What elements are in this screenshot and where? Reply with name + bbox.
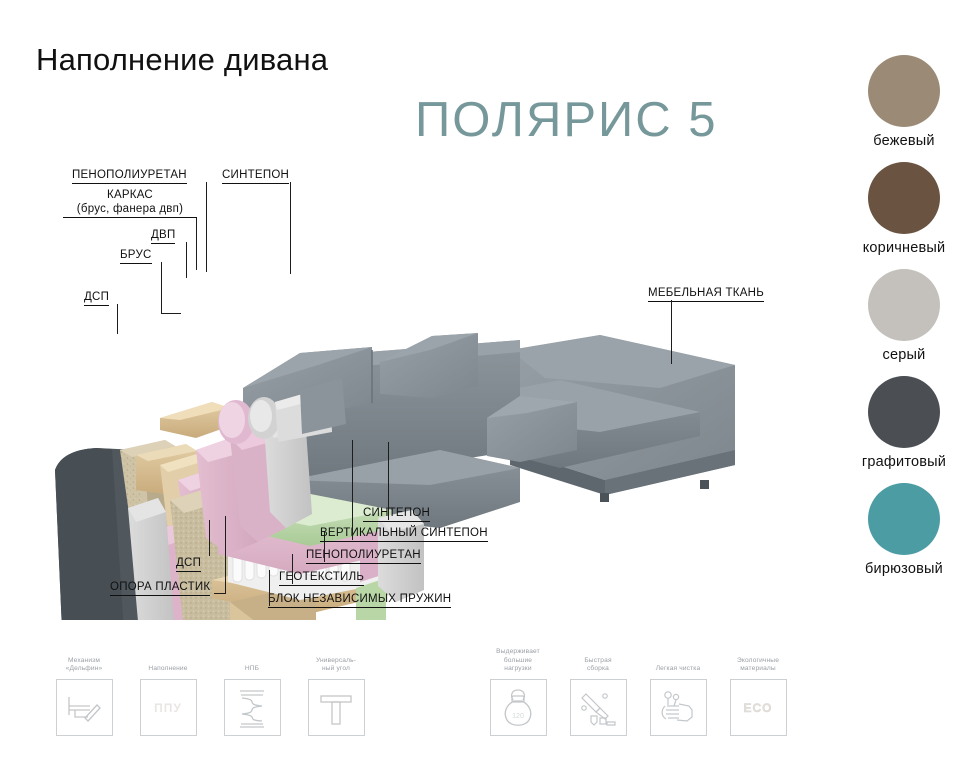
swatch-label: бирюзовый [834, 561, 974, 577]
callout-vertikalnyy-sintepon: ВЕРТИКАЛЬНЫЙ СИНТЕПОН [320, 526, 488, 542]
product-name: ПОЛЯРИС 5 [415, 92, 717, 148]
feature-heavy-load[interactable]: Выдерживаетбольшиенагрузки 120 [489, 648, 547, 736]
svg-text:120: 120 [512, 713, 524, 720]
leader-dvp [186, 242, 187, 278]
leader-dsp-bottom [209, 520, 210, 556]
swatch-item[interactable]: бежевый [834, 55, 974, 149]
leader-vertikalnyy-sintepon [352, 440, 353, 540]
dolphin-mechanism-icon [64, 691, 104, 725]
eco-icon: ECO [743, 701, 772, 715]
swatch-label: коричневый [834, 240, 974, 256]
spring-coil-icon [235, 687, 269, 729]
feature-npb[interactable]: НПБ [223, 648, 281, 736]
universal-corner-icon [317, 689, 355, 727]
callout-dsp-bottom: ДСП [176, 556, 201, 572]
callout-karkas-line1: КАРКАС [107, 189, 153, 201]
leader-opora-plastik-h [214, 593, 226, 594]
swatch-item[interactable]: бирюзовый [834, 483, 974, 577]
callout-penopoliuretan-top: ПЕНОПОЛИУРЕТАН [72, 168, 187, 184]
feature-dolphin-mechanism[interactable]: Механизм«Дельфин» [55, 648, 113, 736]
callout-brus: БРУС [120, 248, 152, 264]
swatch-dot [868, 269, 940, 341]
leader-karkas [196, 218, 197, 270]
callout-dvp: ДВП [151, 228, 175, 244]
callout-karkas-line2: (брус, фанера двп) [63, 202, 197, 218]
screwdriver-icon [578, 688, 618, 728]
callout-opora-plastik: ОПОРА ПЛАСТИК [110, 580, 210, 596]
callout-blok-pruzhin: БЛОК НЕЗАВИСИМЫХ ПРУЖИН [268, 592, 451, 608]
swatch-dot [868, 55, 940, 127]
feature-eco-materials[interactable]: Экологичныематериалы ECO [729, 648, 787, 736]
kettlebell-icon: 120 [500, 687, 536, 729]
cleaning-hand-icon [659, 689, 697, 727]
color-swatch-list: бежевый коричневый серый графитовый бирю… [834, 55, 974, 590]
callout-sintepon-bottom: СИНТЕПОН [363, 506, 430, 522]
feature-row-left: Механизм«Дельфин» Наполнение ППУ [55, 648, 365, 736]
feature-caption: Механизм«Дельфин» [66, 648, 103, 674]
leader-brus [161, 262, 162, 314]
feature-icon-box [308, 679, 365, 736]
feature-caption: Быстраясборка [584, 648, 611, 674]
feature-caption: НПБ [245, 648, 259, 674]
swatch-dot [868, 376, 940, 448]
leader-sintepon-top [290, 182, 291, 274]
leader-sintepon-bottom [388, 442, 389, 520]
feature-icon-box: ППУ [140, 679, 197, 736]
poster-root: Наполнение дивана ПОЛЯРИС 5 [0, 0, 974, 772]
swatch-item[interactable]: графитовый [834, 376, 974, 470]
callout-dsp-top: ДСП [84, 290, 109, 306]
feature-caption: Экологичныематериалы [737, 648, 779, 674]
sofa-cutaway-diagram: ПЕНОПОЛИУРЕТАН СИНТЕПОН КАРКАС (брус, фа… [0, 150, 830, 620]
feature-universal-corner[interactable]: Универсаль-ный угол [307, 648, 365, 736]
feature-row-right: Выдерживаетбольшиенагрузки 120 Быстраясб… [489, 648, 787, 736]
feature-icon-box [570, 679, 627, 736]
feature-caption: Наполнение [148, 648, 187, 674]
feature-filling-ppu[interactable]: Наполнение ППУ [139, 648, 197, 736]
feature-fast-assembly[interactable]: Быстраясборка [569, 648, 627, 736]
feature-icon-box: ECO [730, 679, 787, 736]
swatch-item[interactable]: серый [834, 269, 974, 363]
feature-icon-box [224, 679, 281, 736]
page-title: Наполнение дивана [36, 42, 328, 78]
feature-icon-box [650, 679, 707, 736]
leader-mebelnaya-tkan [671, 300, 672, 364]
callout-mebelnaya-tkan: МЕБЕЛЬНАЯ ТКАНЬ [648, 286, 764, 302]
leader-opora-plastik [225, 516, 226, 594]
leader-penopoliuretan-top [206, 182, 207, 272]
feature-icon-box [56, 679, 113, 736]
leader-brus-h [161, 313, 181, 314]
feature-icon-box: 120 [490, 679, 547, 736]
feature-easy-cleaning[interactable]: Легкая чистка [649, 648, 707, 736]
swatch-label: графитовый [834, 454, 974, 470]
swatch-dot [868, 483, 940, 555]
leader-blok-pruzhin [269, 570, 270, 606]
leader-geotekstil [292, 554, 293, 584]
ppu-filling-icon: ППУ [154, 701, 182, 715]
callout-karkas: КАРКАС (брус, фанера двп) [63, 188, 197, 218]
callout-sintepon-top: СИНТЕПОН [222, 168, 289, 184]
feature-caption: Выдерживаетбольшиенагрузки [496, 648, 540, 674]
leader-dsp-top [117, 304, 118, 334]
feature-caption: Универсаль-ный угол [316, 648, 356, 674]
swatch-dot [868, 162, 940, 234]
swatch-label: бежевый [834, 133, 974, 149]
feature-caption: Легкая чистка [656, 648, 701, 674]
swatch-item[interactable]: коричневый [834, 162, 974, 256]
swatch-label: серый [834, 347, 974, 363]
